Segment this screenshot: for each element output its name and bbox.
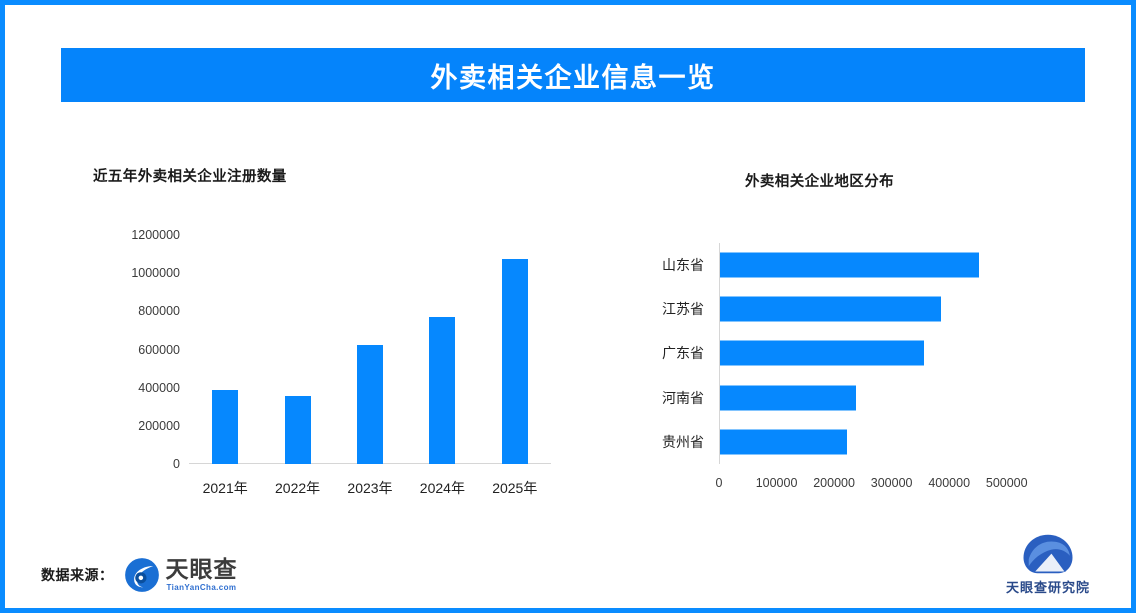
bar-province[interactable]	[720, 253, 979, 278]
institute-name: 天眼查研究院	[1006, 577, 1090, 596]
province-label: 河南省	[662, 388, 704, 408]
regional-chart: 0100000200000300000400000500000山东省江苏省广东省…	[625, 155, 1085, 505]
data-source-footer: 数据来源： 天眼查 TianYanCha.com	[41, 557, 238, 593]
y-axis-tick-label: 800000	[138, 304, 180, 318]
x-axis-tick-label: 300000	[871, 476, 913, 490]
y-axis-tick-label: 1200000	[131, 228, 180, 242]
bar-registrations[interactable]	[357, 345, 383, 464]
y-axis-tick-label: 0	[173, 457, 180, 471]
tianyancha-logo-icon	[124, 557, 160, 593]
registrations-chart: 0200000400000600000800000100000012000002…	[101, 155, 581, 505]
bar-group: 2023年	[334, 235, 406, 464]
data-source-label: 数据来源：	[41, 565, 114, 585]
y-axis-tick-label: 400000	[138, 381, 180, 395]
bar-row: 江苏省	[719, 287, 1024, 331]
page-title: 外卖相关企业信息一览	[431, 56, 716, 95]
x-axis-tick-label: 2025年	[492, 478, 537, 498]
bar-row: 贵州省	[719, 420, 1024, 464]
province-label: 贵州省	[662, 432, 704, 452]
infographic-page: 外卖相关企业信息一览 近五年外卖相关企业注册数量 020000040000060…	[0, 0, 1136, 613]
bar-row: 河南省	[719, 376, 1024, 420]
bar-province[interactable]	[720, 385, 856, 410]
bar-group: 2024年	[406, 235, 478, 464]
bar-group: 2025年	[479, 235, 551, 464]
x-axis-tick-label: 100000	[756, 476, 798, 490]
tianyancha-wordmark: 天眼查 TianYanCha.com	[166, 558, 238, 592]
header-banner: 外卖相关企业信息一览	[61, 48, 1085, 102]
y-axis-tick-label: 200000	[138, 419, 180, 433]
province-label: 江苏省	[662, 299, 704, 319]
regional-plot-area: 0100000200000300000400000500000山东省江苏省广东省…	[719, 243, 1024, 464]
bar-row: 广东省	[719, 331, 1024, 375]
y-axis-tick-label: 1000000	[131, 266, 180, 280]
bar-row: 山东省	[719, 243, 1024, 287]
x-axis-tick-label: 200000	[813, 476, 855, 490]
institute-footer: 天眼查研究院	[993, 533, 1103, 596]
x-axis-tick-label: 2023年	[347, 478, 392, 498]
y-axis-tick-label: 600000	[138, 343, 180, 357]
x-axis-tick-label: 2022年	[275, 478, 320, 498]
province-label: 山东省	[662, 255, 704, 275]
tianyancha-logo: 天眼查 TianYanCha.com	[124, 557, 238, 593]
province-label: 广东省	[662, 343, 704, 363]
bar-registrations[interactable]	[285, 396, 311, 464]
x-axis-tick-label: 2024年	[420, 478, 465, 498]
x-axis-tick-label: 500000	[986, 476, 1028, 490]
bar-province[interactable]	[720, 297, 941, 322]
x-axis-tick-label: 2021年	[203, 478, 248, 498]
bar-province[interactable]	[720, 429, 847, 454]
x-axis-tick-label: 0	[716, 476, 723, 490]
x-axis-tick-label: 400000	[928, 476, 970, 490]
bar-registrations[interactable]	[212, 390, 238, 464]
bar-group: 2021年	[189, 235, 261, 464]
bar-group: 2022年	[261, 235, 333, 464]
tianyancha-brand-cn: 天眼查	[166, 558, 238, 581]
registrations-plot-area: 0200000400000600000800000100000012000002…	[189, 235, 551, 464]
tianyancha-institute-logo-icon	[1020, 533, 1076, 575]
bar-registrations[interactable]	[502, 259, 528, 464]
bar-registrations[interactable]	[429, 317, 455, 464]
tianyancha-brand-en: TianYanCha.com	[167, 583, 237, 592]
bar-province[interactable]	[720, 341, 924, 366]
